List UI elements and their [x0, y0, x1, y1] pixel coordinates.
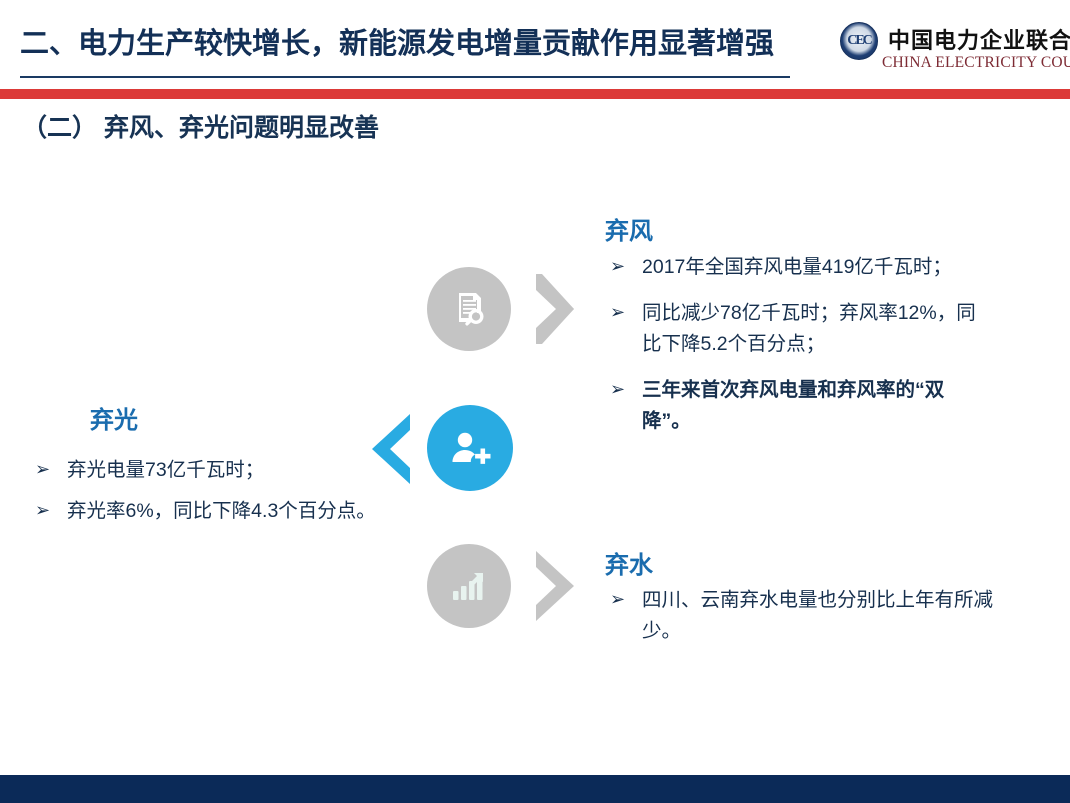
list-item-text: 四川、云南弃水电量也分别比上年有所减少。: [642, 589, 993, 642]
bullet-marker-icon: ➢: [35, 454, 50, 485]
wind-bullet-list: ➢ 2017年全国弃风电量419亿千瓦时； ➢ 同比减少78亿千瓦时；弃风率12…: [610, 252, 988, 452]
list-item-text: 同比减少78亿千瓦时；弃风率12%，同比下降5.2个百分点；: [642, 302, 976, 355]
bullet-marker-icon: ➢: [35, 495, 50, 526]
page-title: 二、电力生产较快增长，新能源发电增量贡献作用显著增强: [20, 20, 774, 62]
logo-name-en: CHINA ELECTRICITY COUNCIL: [882, 54, 1070, 72]
bullet-marker-icon: ➢: [610, 251, 625, 282]
header-underline: [20, 76, 790, 78]
wind-section-heading: 弃风: [605, 211, 653, 246]
bar-chart-icon: [449, 569, 489, 603]
wind-node-circle: [427, 267, 511, 351]
hydro-bullet-list: ➢ 四川、云南弃水电量也分别比上年有所减少。: [610, 585, 1000, 656]
list-item-text: 2017年全国弃风电量419亿千瓦时；: [642, 256, 952, 278]
bullet-marker-icon: ➢: [610, 584, 625, 615]
bullet-marker-icon: ➢: [610, 374, 625, 405]
header-red-bar: [0, 89, 1070, 99]
list-item-text: 三年来首次弃风电量和弃风率的“双降”。: [642, 379, 944, 432]
slide-footer-bar: [0, 775, 1070, 803]
list-item: ➢ 弃光率6%，同比下降4.3个百分点。: [35, 496, 465, 527]
list-item: ➢ 同比减少78亿千瓦时；弃风率12%，同比下降5.2个百分点；: [610, 298, 988, 360]
chevron-right-icon-hydro: [532, 549, 578, 623]
cec-emblem-icon: CEC: [840, 22, 878, 60]
emblem-letters: CEC: [841, 23, 877, 59]
slide-header: 二、电力生产较快增长，新能源发电增量贡献作用显著增强 CEC 中国电力企业联合会…: [0, 0, 1070, 100]
list-item-text: 弃光率6%，同比下降4.3个百分点。: [67, 500, 376, 522]
solar-bullet-list: ➢ 弃光电量73亿千瓦时； ➢ 弃光率6%，同比下降4.3个百分点。: [35, 455, 465, 537]
bullet-marker-icon: ➢: [610, 297, 625, 328]
hydro-section-heading: 弃水: [605, 545, 653, 580]
chevron-right-icon-wind: [532, 272, 578, 346]
document-search-icon: [447, 287, 491, 331]
section-subtitle: （二） 弃风、弃光问题明显改善: [22, 108, 379, 144]
logo-name-cn: 中国电力企业联合会: [888, 23, 1070, 55]
brand-logo: CEC 中国电力企业联合会 CHINA ELECTRICITY COUNCIL: [840, 22, 1062, 78]
list-item: ➢ 2017年全国弃风电量419亿千瓦时；: [610, 252, 988, 283]
list-item: ➢ 弃光电量73亿千瓦时；: [35, 455, 465, 486]
solar-section-heading: 弃光: [90, 400, 138, 435]
list-item-text: 弃光电量73亿千瓦时；: [67, 459, 264, 481]
list-item: ➢ 四川、云南弃水电量也分别比上年有所减少。: [610, 585, 1000, 647]
list-item: ➢ 三年来首次弃风电量和弃风率的“双降”。: [610, 375, 988, 437]
hydro-node-circle: [427, 544, 511, 628]
